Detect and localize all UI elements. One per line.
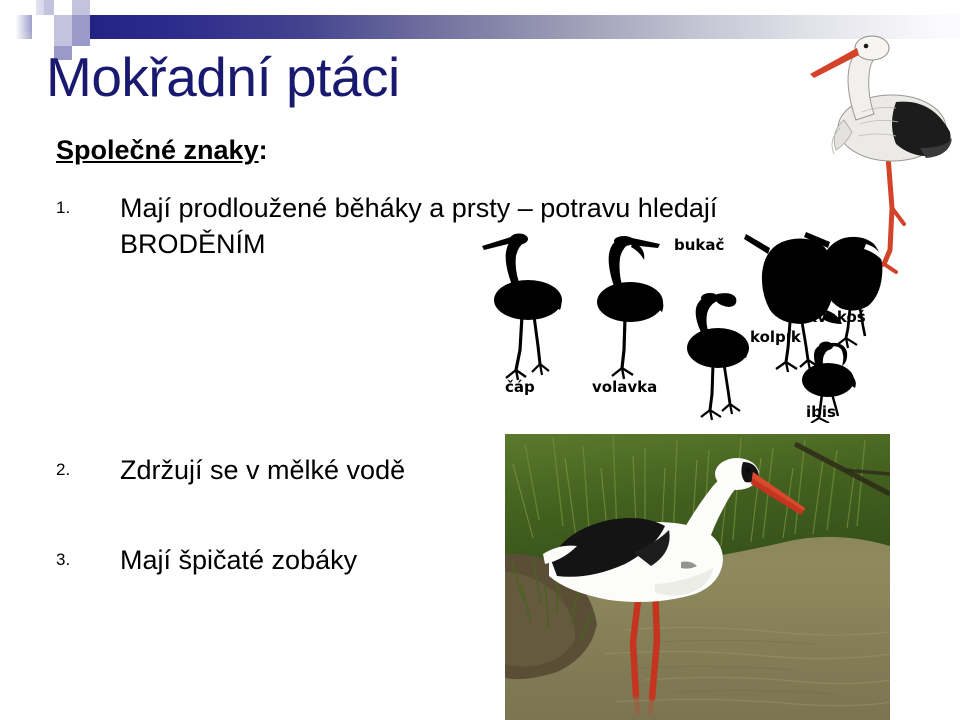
list-item-text: Zdržují se v mělké vodě xyxy=(120,452,405,488)
deco-square-mid-2 xyxy=(72,32,90,46)
deco-square-light-3 xyxy=(72,0,90,15)
list-item-number: 3. xyxy=(56,550,104,570)
deco-square-light-5 xyxy=(54,32,72,46)
bird-silhouette-figure: čáp volavka bukač kolpík kvakoš ibis xyxy=(470,228,890,423)
list-item-text: Mají špičaté zobáky xyxy=(120,542,357,578)
stork-photo xyxy=(505,434,890,720)
deco-square-light-2 xyxy=(54,0,72,15)
header-fade-overlay xyxy=(0,0,44,60)
silhouette-label-cap: čáp xyxy=(505,378,535,396)
slide: Mokřadní ptáci Společné znaky: 1. Mají p… xyxy=(0,0,960,720)
silhouette-label-bukac: bukač xyxy=(674,236,724,254)
subheading-colon: : xyxy=(259,135,268,165)
list-item-number: 1. xyxy=(56,198,104,218)
deco-square-mid-1 xyxy=(72,15,90,32)
silhouette-label-kvakos: kvakoš xyxy=(807,308,866,326)
subheading-text: Společné znaky xyxy=(56,135,259,165)
silhouette-label-volavka: volavka xyxy=(592,378,657,396)
list-item-number: 2. xyxy=(56,460,104,480)
page-title: Mokřadní ptáci xyxy=(46,46,400,108)
deco-square-light-4 xyxy=(54,15,72,32)
silhouette-label-ibis: ibis xyxy=(806,403,836,421)
subheading: Společné znaky: xyxy=(56,135,268,166)
silhouette-label-kolpik: kolpík xyxy=(750,328,801,346)
